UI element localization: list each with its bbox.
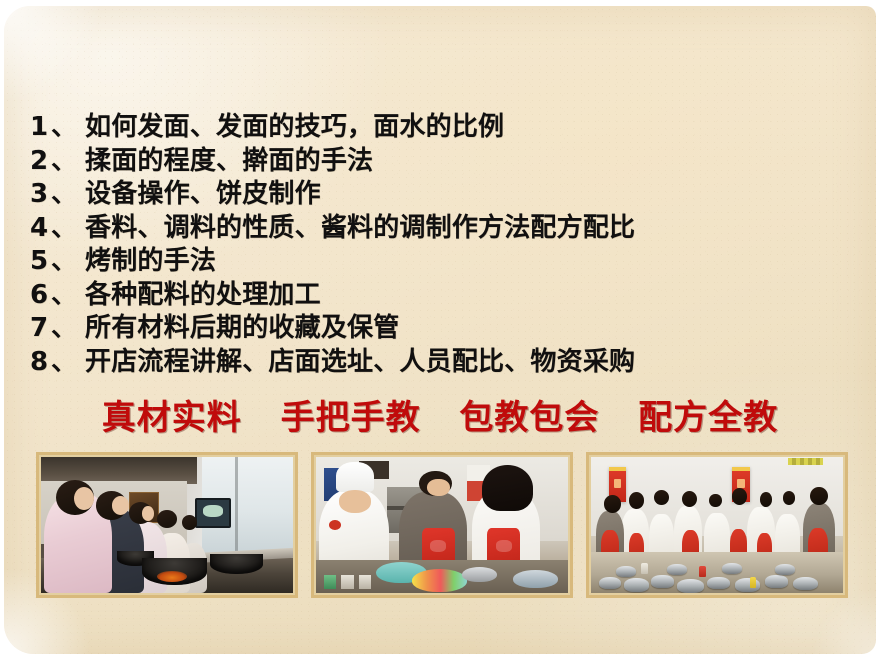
course-item-separator: 、	[51, 240, 77, 277]
photo2-female-student-hair	[482, 465, 532, 511]
course-item-number: 3	[30, 179, 50, 209]
course-list-item: 2 、 揉面的程度、擀面的手法	[30, 140, 850, 174]
photo3-steel-pot	[775, 564, 795, 575]
photo3-sauce-bottle	[641, 563, 648, 574]
course-item-text: 烤制的手法	[85, 240, 216, 277]
course-item-text: 各种配料的处理加工	[85, 274, 321, 311]
photo1-student-head	[157, 510, 177, 528]
photo2-steel-bowl	[513, 570, 558, 588]
course-list-item: 3 、 设备操作、饼皮制作	[30, 173, 850, 207]
course-item-number: 2	[30, 146, 50, 176]
photo3-person-head	[654, 490, 669, 505]
photo3-person-head	[604, 495, 622, 513]
course-list-item: 8 、 开店流程讲解、店面选址、人员配比、物资采购	[30, 341, 850, 375]
course-item-separator: 、	[51, 341, 77, 378]
photo-frame-chef-teaching: 厨师长现场手把手教学	[311, 452, 573, 598]
course-item-text: 如何发面、发面的技巧，面水的比例	[85, 106, 504, 143]
photo1-monitor	[195, 498, 232, 528]
course-item-text: 揉面的程度、擀面的手法	[85, 140, 373, 177]
photo3-steel-pot	[616, 566, 636, 577]
photo3-steel-pot	[677, 579, 705, 593]
course-item-text: 所有材料后期的收藏及保管	[85, 307, 399, 344]
photo2-condiment-jar	[359, 575, 372, 589]
slogan-phrase: 真材实料	[102, 398, 242, 438]
course-item-separator: 、	[51, 173, 77, 210]
course-item-separator: 、	[51, 274, 77, 311]
slide-canvas: 1 、 如何发面、发面的技巧，面水的比例 2 、 揉面的程度、擀面的手法 3 、…	[0, 0, 880, 660]
photo-strip: 学员排队灶台炒锅实操	[36, 452, 848, 598]
photo3-ceiling-light	[788, 458, 823, 465]
photo3-person-head	[682, 491, 697, 507]
photo2-male-student-face	[427, 479, 450, 497]
slogan-phrase: 配方全教	[638, 398, 778, 438]
photo3-person-head	[732, 488, 747, 504]
course-item-number: 8	[30, 347, 50, 377]
photo2-colorful-basin	[412, 569, 467, 592]
photo-chef-teaching: 厨师长现场手把手教学	[316, 457, 568, 593]
photo2-chef-hat	[336, 462, 374, 492]
course-item-separator: 、	[51, 140, 77, 177]
photo2-steel-bowl	[462, 567, 497, 582]
course-item-text: 香料、调料的性质、酱料的调制作方法配方配比	[85, 207, 635, 244]
course-item-number: 4	[30, 213, 50, 243]
photo3-steel-pot	[735, 578, 760, 592]
photo3-steel-pot	[722, 563, 742, 574]
photo2-chef-face	[339, 490, 372, 513]
course-item-number: 7	[30, 313, 50, 343]
photo3-steel-pot	[667, 564, 687, 575]
photo-students-woks: 学员排队灶台炒锅实操	[41, 457, 293, 593]
photo-classroom-group: 教室学员集体备料实训	[591, 457, 843, 593]
photo3-sauce-bottle	[750, 577, 757, 588]
photo3-steel-pot	[707, 577, 730, 589]
course-list-item: 6 、 各种配料的处理加工	[30, 274, 850, 308]
course-item-text: 设备操作、饼皮制作	[85, 173, 321, 210]
slogan-phrase: 包教包会	[459, 398, 599, 438]
photo3-sauce-bottle	[699, 566, 706, 577]
course-item-number: 6	[30, 280, 50, 310]
photo-frame-students-woks: 学员排队灶台炒锅实操	[36, 452, 298, 598]
slogan-phrase: 手把手教	[281, 398, 421, 438]
photo3-person-head	[629, 492, 644, 508]
photo3-steel-pot	[599, 577, 622, 589]
photo3-person-head	[783, 491, 796, 505]
photo3-steel-pot	[624, 578, 649, 592]
photo2-condiment-jar	[341, 575, 354, 589]
course-list-item: 4 、 香料、调料的性质、酱料的调制作方法配方配比	[30, 207, 850, 241]
photo1-student-face	[74, 487, 94, 510]
photo3-steel-pot	[651, 575, 674, 587]
course-item-number: 5	[30, 246, 50, 276]
photo1-wok	[210, 554, 263, 574]
course-item-separator: 、	[51, 106, 77, 143]
course-list-item: 5 、 烤制的手法	[30, 240, 850, 274]
photo2-condiment-jar	[324, 575, 337, 589]
photo1-student-head	[182, 515, 197, 530]
photo3-steel-pot	[793, 577, 818, 591]
course-item-number: 1	[30, 112, 50, 142]
course-list: 1 、 如何发面、发面的技巧，面水的比例 2 、 揉面的程度、擀面的手法 3 、…	[30, 106, 850, 374]
course-list-item: 1 、 如何发面、发面的技巧，面水的比例	[30, 106, 850, 140]
photo1-ceiling-vent	[66, 461, 132, 471]
course-item-separator: 、	[51, 307, 77, 344]
course-list-item: 7 、 所有材料后期的收藏及保管	[30, 307, 850, 341]
photo3-person-head	[810, 487, 828, 505]
photo3-steel-pot	[765, 575, 788, 587]
slogan-headline: 真材实料 手把手教 包教包会 配方全教	[0, 390, 880, 439]
course-item-separator: 、	[51, 207, 77, 244]
course-item-text: 开店流程讲解、店面选址、人员配比、物资采购	[85, 341, 635, 378]
photo-frame-classroom-group: 教室学员集体备料实训	[586, 452, 848, 598]
